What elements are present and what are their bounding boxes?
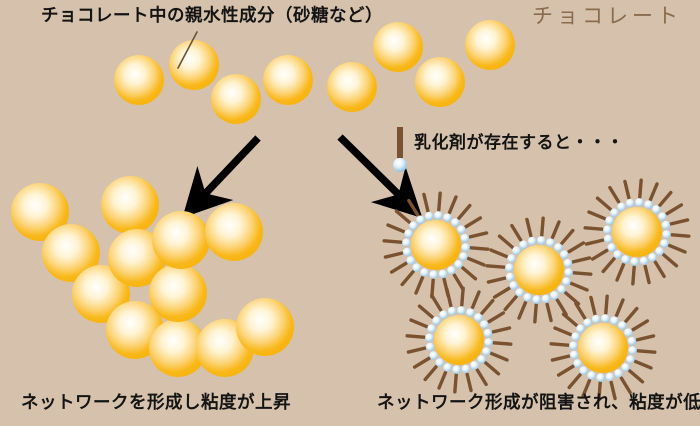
emulsifier-tail: [598, 198, 611, 209]
hydrophilic-particle: [114, 55, 164, 105]
hydrophilic-particle: [373, 22, 423, 72]
emulsifier-head-bead: [484, 329, 493, 338]
emulsifier-tail: [625, 181, 629, 198]
emulsifier-head-bead: [429, 270, 438, 279]
emulsifier-head-bead: [628, 346, 637, 355]
emulsifier-head-bead: [459, 252, 468, 261]
emulsifier-tail: [491, 250, 507, 257]
emulsifier-tail: [635, 361, 651, 368]
emulsifier-tail: [402, 272, 413, 285]
emulsifier-head-bead: [606, 373, 615, 382]
arrow-to-micelles: [340, 137, 400, 196]
emulsifier-head-bead: [480, 320, 489, 329]
emulsifier-tail: [392, 263, 407, 272]
emulsifier-tail: [477, 370, 486, 385]
emulsifier-head-bead: [404, 229, 413, 238]
hydrophilic-particle: [415, 57, 465, 107]
emulsifier-tail: [621, 378, 630, 393]
emulsifier-tail: [459, 206, 470, 219]
emulsifier-head-bead: [482, 347, 491, 356]
emulsifier-icon: [393, 127, 407, 172]
emulsifier-head-bead: [652, 205, 661, 214]
micelle-core-particle: [411, 220, 461, 270]
emulsifier-tail: [466, 218, 481, 227]
arrow-group: [204, 137, 400, 196]
hydrophilic-particle: [169, 40, 219, 90]
emulsifier-tail: [411, 320, 427, 327]
micelle-group: [384, 180, 689, 400]
hydrophilic-particle-group-top: [114, 20, 515, 124]
emulsifier-tail: [664, 255, 677, 266]
emulsifier-head-bead: [607, 243, 616, 252]
emulsifier-head-bead: [621, 255, 630, 264]
emulsifier-head-bead: [420, 268, 429, 277]
network-particle: [101, 176, 159, 234]
emulsifier-head-bead: [617, 202, 626, 211]
particle-network-group: [11, 176, 294, 377]
emulsifier-head-bead: [621, 363, 630, 372]
emulsifier-head-bead: [435, 358, 444, 367]
emulsifier-tail: [462, 288, 463, 305]
hydrophilic-particle: [263, 55, 313, 105]
emulsifier-head-bead: [409, 221, 418, 230]
emulsifier-tail: [667, 205, 682, 214]
emulsifier-tail: [589, 212, 605, 219]
emulsifier-head-bead: [506, 273, 515, 282]
emulsifier-head-bead: [546, 238, 555, 247]
emulsifier-head-bead: [596, 373, 605, 382]
emulsifier-head-bead: [457, 306, 466, 315]
emulsifier-head-bead: [412, 263, 421, 272]
emulsifier-tail: [415, 358, 430, 367]
emulsifier-head-bead: [451, 218, 460, 227]
hydrophilic-particle: [211, 74, 261, 124]
emulsifier-head-bead: [605, 216, 614, 225]
emulsifier-head-bead: [655, 247, 664, 256]
emulsifier-head-bead: [635, 198, 644, 207]
emulsifier-head-bead: [443, 213, 452, 222]
emulsifier-tail: [385, 253, 402, 257]
emulsifier-head-bead: [426, 343, 435, 352]
emulsifier-tail: [573, 258, 590, 262]
emulsifier-head-bead: [604, 235, 613, 244]
emulsifier-head-bead: [509, 281, 518, 290]
emulsifier-head-bead: [660, 239, 669, 248]
emulsifier-head-bead: [470, 361, 479, 370]
emulsifier-head-bead: [462, 365, 471, 374]
emulsifier-head-bead: [427, 324, 436, 333]
emulsifier-head-bead: [644, 200, 653, 209]
emulsifier-head-bead: [640, 257, 649, 266]
emulsifier-head-bead: [542, 295, 551, 304]
emulsifier-head-bead: [564, 259, 573, 268]
emulsifier-tail: [669, 245, 685, 252]
micelle-core-particle: [578, 323, 628, 373]
emulsifier-tail: [447, 289, 451, 306]
emulsifier-tail: [439, 372, 446, 388]
emulsifier-head-bead: [662, 221, 671, 230]
emulsifier-tail: [576, 304, 585, 319]
emulsifier-tail: [408, 348, 425, 352]
emulsifier-head-bead: [603, 225, 612, 234]
emulsifier-tail: [542, 218, 543, 235]
emulsifier-tail: [424, 194, 428, 211]
emulsifier-head-bead: [528, 237, 537, 246]
emulsifier-tail: [672, 235, 689, 236]
emulsifier-head-bead: [658, 212, 667, 221]
emulsifier-tail: [569, 375, 580, 388]
emulsifier-tail: [500, 236, 513, 247]
emulsifier-tail: [564, 314, 577, 325]
emulsifier-tail: [449, 197, 456, 213]
emulsifier-tail: [486, 363, 499, 374]
emulsifier-tail: [586, 240, 603, 244]
emulsifier-tail: [660, 193, 671, 206]
emulsifier-head-bead: [416, 215, 425, 224]
emulsifier-head-bead: [648, 253, 657, 262]
emulsifier-tail: [585, 228, 602, 229]
emulsifier-head-bead: [474, 313, 483, 322]
emulsifier-head-bead: [624, 328, 633, 337]
emulsifier-head-bead: [614, 369, 623, 378]
network-particle: [149, 264, 207, 322]
emulsifier-head-bead: [587, 371, 596, 380]
emulsifier-tail: [552, 356, 569, 360]
emulsifier-head-bead: [447, 266, 456, 275]
emulsifier-tail: [432, 296, 441, 311]
emulsifier-tail: [552, 222, 559, 238]
emulsifier-tail: [547, 304, 551, 321]
emulsifier-tail: [388, 225, 404, 232]
emulsifier-tail: [472, 292, 479, 308]
micelle-core-particle: [612, 207, 662, 257]
emulsifier-tail: [439, 193, 440, 210]
emulsifier-head-bead: [557, 285, 566, 294]
emulsifier-tail: [555, 328, 571, 335]
emulsifier-tail: [470, 233, 487, 237]
emulsifier-tail: [569, 243, 584, 252]
emulsifier-head-bead: [571, 332, 580, 341]
emulsifier-head-icon: [393, 158, 407, 172]
emulsifier-head-bead: [443, 363, 452, 372]
emulsifier-tail: [491, 353, 507, 360]
emulsifier-tail: [512, 226, 521, 241]
emulsifier-tail: [559, 366, 574, 375]
emulsifier-tail: [645, 266, 649, 283]
emulsifier-tail: [671, 220, 688, 224]
emulsifier-tail: [591, 297, 595, 314]
emulsifier-head-bead: [537, 236, 546, 245]
emulsifier-head-bead: [630, 257, 639, 266]
hydrophilic-particle: [327, 62, 377, 112]
caption-network-inhibited: ネットワーク形成が阻害され、粘度が低下: [377, 394, 700, 412]
emulsifier-head-bead: [515, 288, 524, 297]
emulsifier-tail: [535, 305, 536, 322]
emulsifier-head-bead: [507, 254, 516, 263]
page-title: チョコレート: [532, 6, 682, 27]
emulsifier-head-bead: [454, 260, 463, 269]
emulsifier-head-bead: [406, 256, 415, 265]
emulsifier-head-bead: [523, 293, 532, 302]
emulsifier-tail: [384, 241, 401, 242]
emulsifier-head-bead: [432, 316, 441, 325]
hydrophilic-components-label: チョコレート中の親水性成分（砂糖など）: [41, 7, 383, 25]
emulsifier-head-bead: [560, 250, 569, 259]
emulsifier-tail: [409, 201, 418, 216]
emulsifier-head-bead: [662, 230, 671, 239]
emulsifier-head-bead: [628, 337, 637, 346]
emulsifier-head-bead: [579, 366, 588, 375]
emulsifier-tail: [571, 283, 587, 290]
emulsifier-head-bead: [610, 208, 619, 217]
emulsifier-tail: [655, 262, 664, 277]
emulsifier-tail: [471, 248, 488, 249]
emulsifier-head-bead: [573, 359, 582, 368]
emulsifier-head-bead: [461, 234, 470, 243]
emulsifier-tail: [527, 219, 531, 236]
emulsifier-head-bead: [532, 295, 541, 304]
emulsifier-head-bead: [452, 365, 461, 374]
emulsifier-tail: [468, 258, 484, 265]
emulsifier-head-bead: [439, 270, 448, 279]
emulsifier-head-bead: [505, 263, 514, 272]
emulsifier-head-bead: [477, 355, 486, 364]
emulsifier-tail: [562, 231, 573, 244]
emulsifier-head-bead: [550, 291, 559, 300]
emulsifier-head-bead: [429, 351, 438, 360]
emulsifier-tail: [557, 300, 566, 315]
emulsifier-tail: [610, 188, 619, 203]
micelle: [551, 296, 655, 400]
emulsifier-head-bead: [592, 315, 601, 324]
emulsifier-tail: [463, 268, 476, 279]
emulsifier-tail: [617, 264, 624, 280]
micelle-core-particle: [514, 245, 564, 295]
emulsifier-tail: [551, 344, 568, 345]
emulsifier-tail: [638, 351, 655, 352]
emulsifier-tail: [640, 180, 641, 197]
emulsifier-tail: [487, 266, 504, 267]
emulsifier-tail: [633, 267, 634, 284]
caption-network-formed: ネットワークを形成し粘度が上昇: [21, 394, 291, 412]
diagram-canvas: [0, 0, 700, 426]
emulsifier-head-bead: [601, 314, 610, 323]
emulsifier-tail: [593, 250, 608, 259]
network-particle: [205, 203, 263, 261]
hydrophilic-particle: [465, 20, 515, 70]
micelle: [407, 288, 511, 392]
emulsifier-head-bead: [569, 341, 578, 350]
emulsifier-tail: [505, 297, 516, 310]
micelle: [384, 193, 488, 297]
emulsifier-head-bead: [576, 324, 585, 333]
emulsifier-tail: [616, 300, 623, 316]
micelle: [585, 180, 689, 284]
emulsifier-tail: [489, 313, 504, 322]
emulsifier-tail: [467, 374, 471, 391]
emulsifier-head-bead: [484, 338, 493, 347]
emulsifier-tail: [425, 367, 436, 380]
emulsifier-tail: [633, 321, 648, 330]
emulsifier-head-bead: [425, 212, 434, 221]
emulsifier-head-bead: [439, 310, 448, 319]
emulsifier-tail: [650, 184, 657, 200]
emulsifier-head-bead: [434, 211, 443, 220]
emulsifier-tail: [637, 336, 654, 340]
emulsifier-tail: [493, 328, 510, 332]
emulsifier-head-bead: [554, 243, 563, 252]
network-particle: [236, 298, 294, 356]
arrow-to-network: [204, 138, 258, 195]
emulsifier-tail: [494, 343, 511, 344]
emulsifier-head-bead: [583, 318, 592, 327]
emulsifier-tail: [630, 371, 643, 382]
emulsifier-tail: [606, 296, 607, 313]
emulsifier-tail: [397, 211, 410, 222]
emulsifier-head-bead: [461, 243, 470, 252]
emulsifier-tail: [495, 288, 510, 297]
emulsifier-head-bead: [512, 246, 521, 255]
emulsifier-head-bead: [519, 240, 528, 249]
emulsifier-tail: [574, 273, 591, 274]
emulsifier-head-bead: [457, 225, 466, 234]
emulsifier-head-bead: [626, 355, 635, 364]
emulsifier-head-bead: [466, 308, 475, 317]
emulsifier-tail: [455, 375, 456, 392]
emulsifier-tail: [416, 277, 423, 293]
chocolate-emulsifier-diagram: チョコレート中の親水性成分（砂糖など） チョコレート 乳化剤が存在すると・・・ …: [0, 0, 700, 426]
emulsifier-head-bead: [613, 250, 622, 259]
micelle: [487, 218, 591, 322]
emulsifier-head-bead: [610, 316, 619, 325]
emulsifier-head-bead: [618, 321, 627, 330]
emulsifier-head-bead: [448, 307, 457, 316]
emulsifier-tail: [603, 259, 614, 272]
network-particle: [152, 211, 210, 269]
emulsifier-head-bead: [402, 238, 411, 247]
micelle-core-particle: [434, 315, 484, 365]
emulsifier-tail: [420, 306, 433, 317]
emulsifier-tail: [626, 309, 637, 322]
emulsifier-tail: [407, 336, 424, 337]
emulsifier-tail: [482, 301, 493, 314]
emulsifier-head-bead: [564, 268, 573, 277]
emulsifier-tail: [488, 278, 505, 282]
emulsifier-head-bead: [626, 199, 635, 208]
emulsifier-head-bead: [570, 351, 579, 360]
emulsifier-present-label: 乳化剤が存在すると・・・: [414, 134, 624, 151]
emulsifier-head-bead: [562, 277, 571, 286]
emulsifier-head-bead: [403, 248, 412, 257]
emulsifier-head-bead: [425, 333, 434, 342]
emulsifier-tail: [519, 302, 526, 318]
